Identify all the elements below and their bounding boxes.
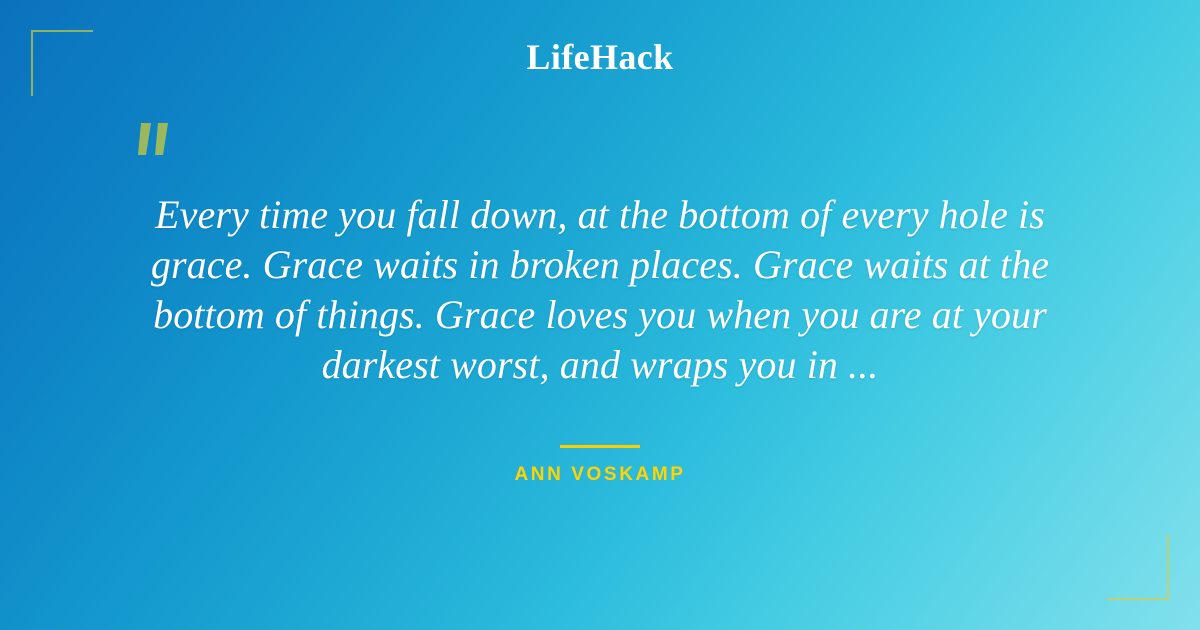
quote-line-2: grace. Grace waits in broken places. Gra…: [120, 240, 1080, 290]
quote-body: Every time you fall down, at the bottom …: [120, 190, 1080, 390]
quote-line-1: Every time you fall down, at the bottom …: [120, 190, 1080, 240]
quote-line-3: bottom of things. Grace loves you when y…: [120, 290, 1080, 340]
corner-bracket-icon-bottom-right: [1107, 534, 1169, 600]
quote-card: LifeHack Every time you fall down, at th…: [0, 0, 1200, 630]
quote-line-4: darkest worst, and wraps you in ...: [120, 340, 1080, 390]
author-divider: [560, 445, 640, 448]
brand-logo: LifeHack: [0, 39, 1200, 75]
quotation-mark-icon: [134, 121, 180, 169]
author-name: ANN VOSKAMP: [514, 464, 685, 485]
author-attribution-wrap: ANN VOSKAMP: [0, 464, 1200, 486]
author-divider-wrap: [0, 435, 1200, 453]
